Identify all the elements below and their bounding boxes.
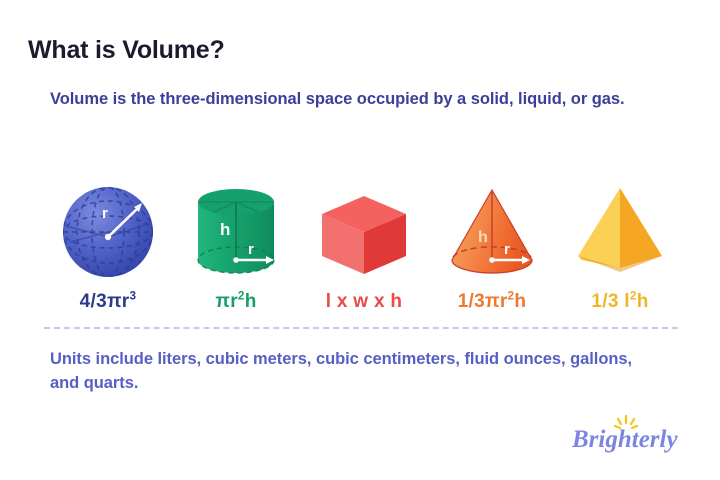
dashed-divider [44,327,678,329]
logo-wordmark: Brighterly [571,426,678,453]
page-title: What is Volume? [28,36,225,65]
shapes-row: r 4/3πr3 [46,163,682,311]
shape-cylinder: h r πr2h [174,163,298,311]
sphere-label-r: r [102,205,108,222]
formula-cone: 1/3πr2h [458,292,527,311]
cone-illustration: h r [430,176,554,288]
cube-illustration [302,176,426,288]
infographic-card: What is Volume? Volume is the three-dime… [0,0,720,480]
cylinder-label-h: h [220,220,230,239]
cylinder-illustration: h r [174,176,298,288]
shape-sphere: r 4/3πr3 [46,163,170,311]
intro-paragraph: Volume is the three-dimensional space oc… [50,88,650,111]
cone-label-r: r [504,241,510,258]
cylinder-label-r: r [248,241,254,258]
units-paragraph: Units include liters, cubic meters, cubi… [50,348,660,396]
formula-sphere: 4/3πr3 [80,292,137,311]
formula-cube: l x w x h [326,292,403,311]
brighterly-logo[interactable]: Brighterly [570,414,698,458]
shape-cone: h r 1/3πr2h [430,163,554,311]
shape-cube: l x w x h [302,163,426,311]
formula-pyramid: 1/3 l2h [591,292,648,311]
cone-label-h: h [478,229,488,246]
pyramid-illustration [558,176,682,288]
shape-pyramid: 1/3 l2h [558,163,682,311]
formula-cylinder: πr2h [215,292,256,311]
sphere-illustration: r [46,176,170,288]
